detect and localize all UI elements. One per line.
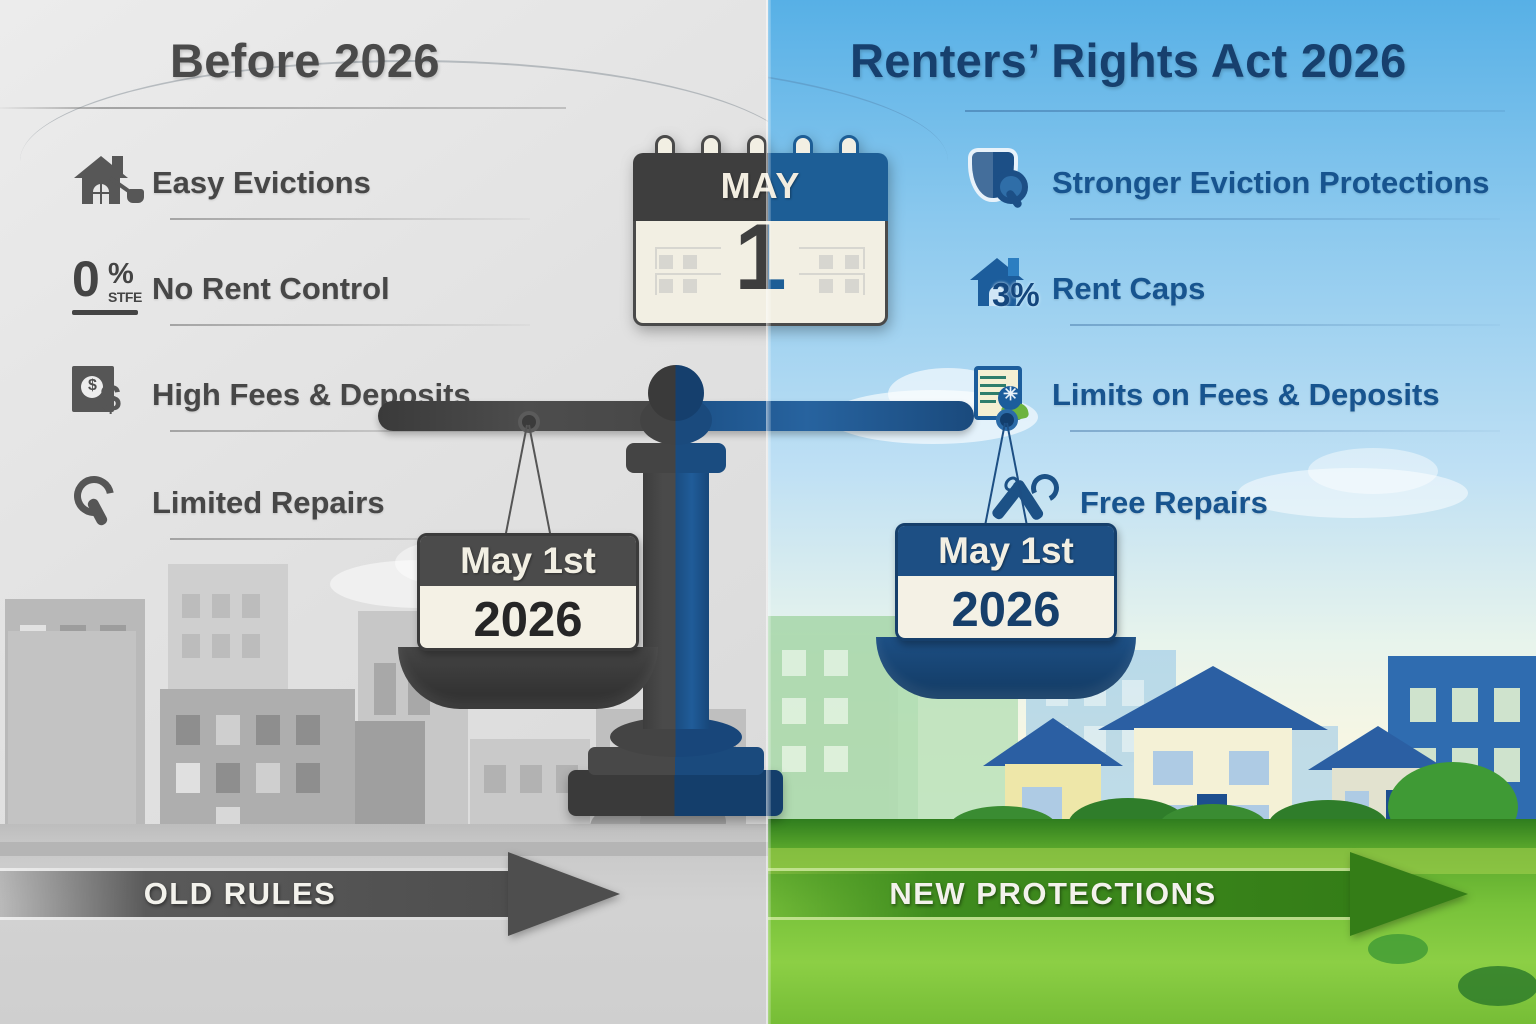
feature-divider: [1070, 324, 1500, 326]
cloud-decor: [1308, 448, 1438, 494]
left-title-rule: [0, 107, 566, 109]
feature-label: No Rent Control: [152, 271, 390, 307]
scale-base: [568, 770, 783, 816]
feature-divider: [1070, 218, 1500, 220]
feature-label: Limited Repairs: [152, 485, 385, 521]
balance-scale: May 1st 2026 May 1st 2026: [378, 365, 1158, 835]
feature-divider: [170, 324, 530, 326]
feature-easy-evictions[interactable]: Easy Evictions: [70, 146, 371, 220]
calendar-day: 1: [633, 210, 888, 304]
page-title-left: Before 2026: [170, 33, 440, 88]
scale-pan-left: [398, 647, 658, 709]
date-sign-left: May 1st 2026: [417, 533, 639, 651]
bush-decor: [1458, 966, 1536, 1006]
zero-percent-icon: 0 % STFE: [70, 252, 152, 326]
calendar-month: MAY: [633, 165, 888, 207]
feature-label: Easy Evictions: [152, 165, 371, 201]
house-percent-icon: 3%: [970, 252, 1052, 326]
scale-column-cap: [626, 443, 726, 473]
sign-header: May 1st: [898, 526, 1114, 576]
calendar-badge: MAY 1: [633, 135, 888, 340]
feature-rent-caps[interactable]: 3% Rent Caps: [970, 252, 1205, 326]
feature-limited-repairs[interactable]: Limited Repairs: [70, 466, 385, 540]
arrow-label: NEW PROTECTIONS: [768, 870, 1338, 918]
feature-stronger-eviction-protections[interactable]: Stronger Eviction Protections: [970, 146, 1490, 220]
feature-label: Stronger Eviction Protections: [1052, 165, 1490, 201]
money-fees-icon: $$: [70, 358, 152, 432]
right-title-rule: [965, 110, 1505, 112]
house-eviction-icon: [70, 146, 152, 220]
sign-header: May 1st: [420, 536, 636, 586]
old-rules-arrow[interactable]: OLD RULES: [0, 852, 620, 936]
sign-year: 2026: [420, 586, 636, 651]
page-title-right: Renters’ Rights Act 2026: [850, 33, 1407, 88]
feature-divider: [170, 218, 530, 220]
scale-pan-right: [876, 637, 1136, 699]
new-protections-arrow[interactable]: NEW PROTECTIONS: [768, 852, 1468, 936]
sign-year: 2026: [898, 576, 1114, 641]
scale-finial: [648, 365, 704, 421]
shield-magnifier-icon: [970, 146, 1052, 220]
feature-label: Rent Caps: [1052, 271, 1205, 307]
bush-decor: [1368, 934, 1428, 964]
feature-no-rent-control[interactable]: 0 % STFE No Rent Control: [70, 252, 390, 326]
percent-value: 0: [72, 254, 100, 304]
infographic-canvas: Before 2026 Easy Evictions 0 % STFE: [0, 0, 1536, 1024]
arrow-label: OLD RULES: [0, 870, 490, 918]
percent-symbol: %: [1010, 276, 1039, 313]
date-sign-right: May 1st 2026: [895, 523, 1117, 641]
scale-column: [643, 461, 709, 729]
percent-sub-label: STFE: [108, 289, 142, 305]
wrench-icon: [70, 466, 152, 540]
arrow-head: [508, 852, 620, 936]
percent-symbol: %: [108, 260, 134, 289]
arrow-head: [1350, 852, 1468, 936]
percent-value: 3: [992, 276, 1010, 313]
